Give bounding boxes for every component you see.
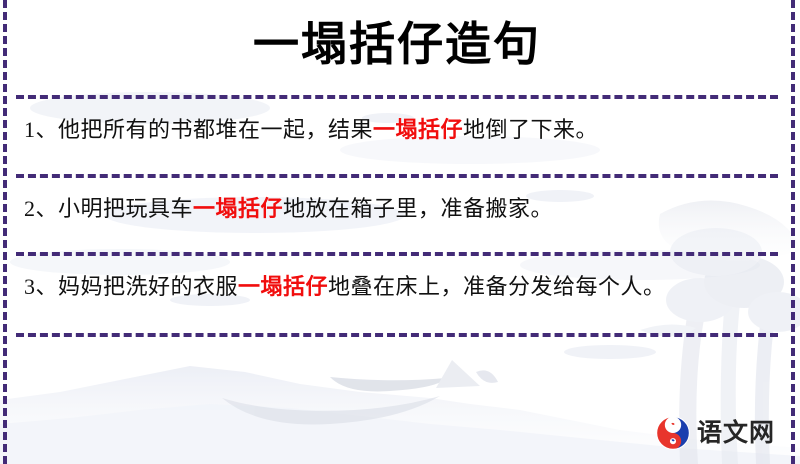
sentence-2-text-after: 地放在箱子里，准备搬家。 [283,196,553,221]
example-sentence-1: 1、他把所有的书都堆在一起，结果一塌括仔地倒了下来。 [16,99,778,148]
site-logo[interactable]: 语文网 [656,416,775,450]
worksheet-page: 一塌括仔造句 1、他把所有的书都堆在一起，结果一塌括仔地倒了下来。 2、小明把玩… [0,0,800,464]
frame-left-dashed-rule [3,0,7,464]
worksheet-content: 一塌括仔造句 1、他把所有的书都堆在一起，结果一塌括仔地倒了下来。 2、小明把玩… [0,0,800,464]
sentence-3-index: 3、 [24,274,58,299]
sentence-2-index: 2、 [24,196,58,221]
page-title: 一塌括仔造句 [16,0,778,72]
sentence-3-text-after: 地叠在床上，准备分发给每个人。 [328,274,666,299]
sentence-1-index: 1、 [24,117,58,142]
sentence-2-highlight-term: 一塌括仔 [193,196,283,221]
sentence-3-text-before: 妈妈把洗好的衣服 [58,274,238,299]
site-logo-text: 语文网 [697,421,775,446]
sentence-1-text-before: 他把所有的书都堆在一起，结果 [58,117,373,142]
yinyang-taiji-logo-icon [656,416,690,450]
sentence-1-highlight-term: 一塌括仔 [373,117,463,142]
sentence-2-text-before: 小明把玩具车 [58,196,193,221]
sentence-3-highlight-term: 一塌括仔 [238,274,328,299]
divider-rule-4 [16,333,778,337]
example-sentence-3: 3、妈妈把洗好的衣服一塌括仔地叠在床上，准备分发给每个人。 [16,256,778,305]
frame-right-dashed-rule [791,0,795,464]
sentence-1-text-after: 地倒了下来。 [463,117,598,142]
example-sentence-2: 2、小明把玩具车一塌括仔地放在箱子里，准备搬家。 [16,178,778,227]
